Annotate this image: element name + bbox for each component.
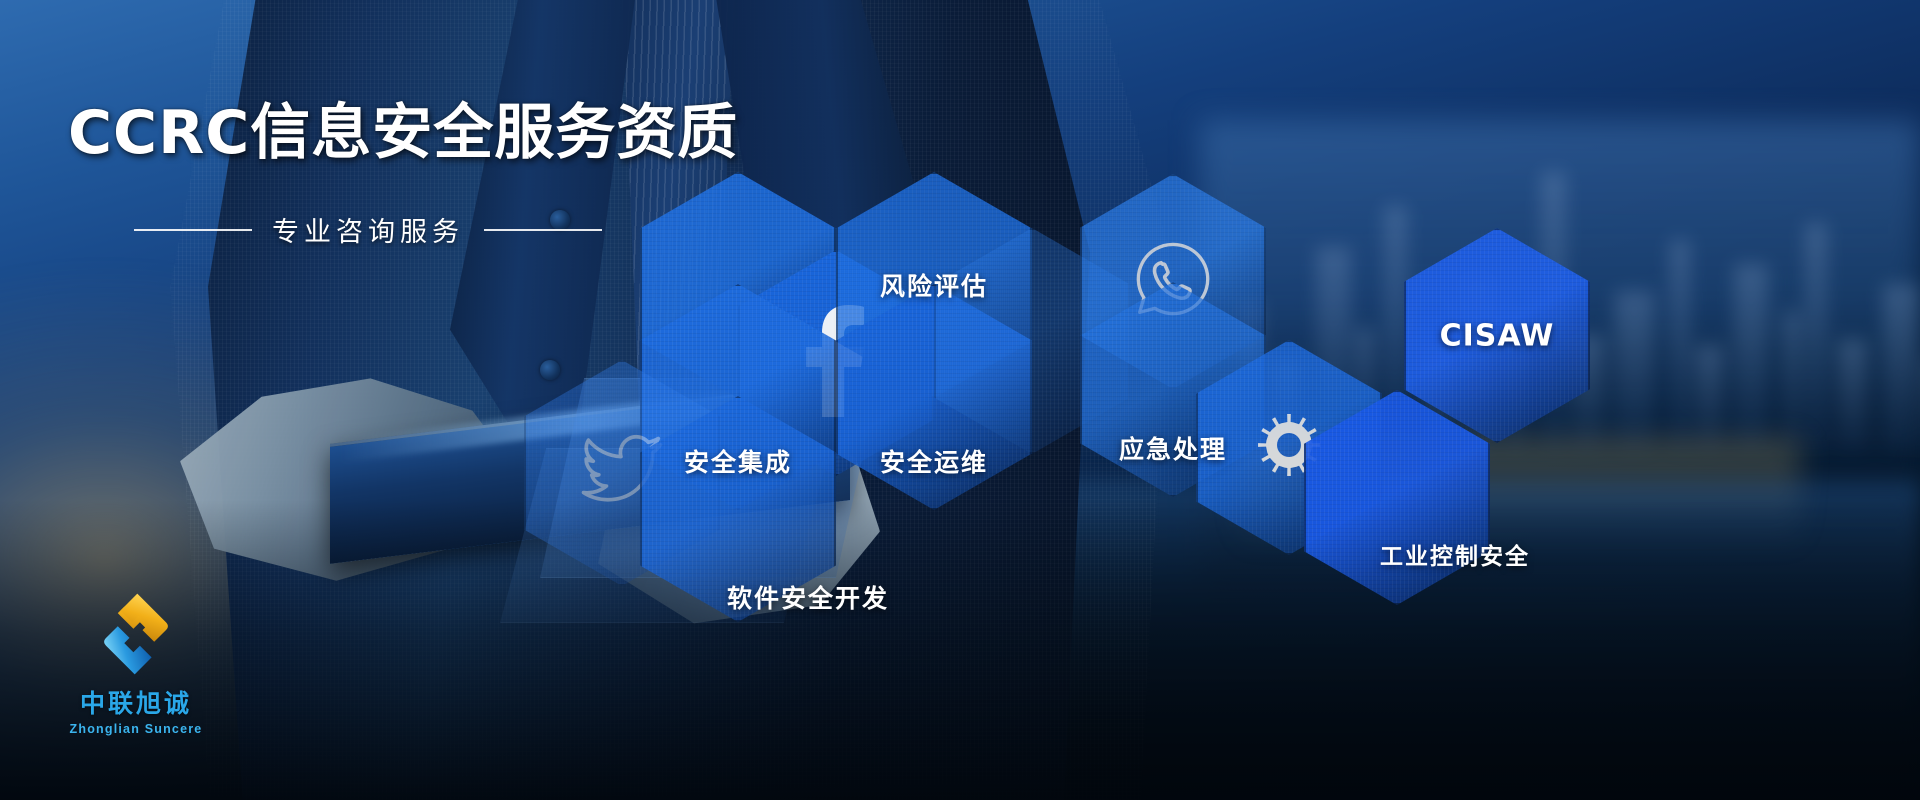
company-logo[interactable]: 中联旭诚 Zhonglian Suncere [52, 588, 220, 736]
logo-name-cn: 中联旭诚 [52, 684, 220, 720]
ccrc-security-banner: 风险评估安全集成安全运维 软件安全开发 应急处理 CISAW工业控制安全 CCR… [0, 0, 1920, 800]
hex-risk-assessment-label: 风险评估 [880, 267, 988, 303]
title-block: CCRC信息安全服务资质 专业咨询服务 [68, 100, 738, 249]
subtitle-row: 专业咨询服务 [134, 210, 738, 249]
hex-cisaw-label: CISAW [1440, 318, 1555, 353]
interlocking-diamond-icon [90, 588, 182, 680]
subtitle-rule-left [134, 229, 252, 231]
subtitle-rule-right [484, 229, 602, 231]
hex-software-security-label: 软件安全开发 [727, 579, 889, 615]
logo-name-en: Zhonglian Suncere [52, 722, 220, 736]
page-subtitle: 专业咨询服务 [272, 210, 464, 249]
hex-security-integration-label: 安全集成 [684, 443, 792, 479]
page-title: CCRC信息安全服务资质 [68, 100, 738, 166]
hex-industrial-label: 工业控制安全 [1380, 537, 1530, 571]
logo-mark-icon [90, 588, 182, 680]
hex-emergency-label: 应急处理 [1119, 430, 1227, 466]
hex-security-ops-label: 安全运维 [880, 443, 988, 479]
